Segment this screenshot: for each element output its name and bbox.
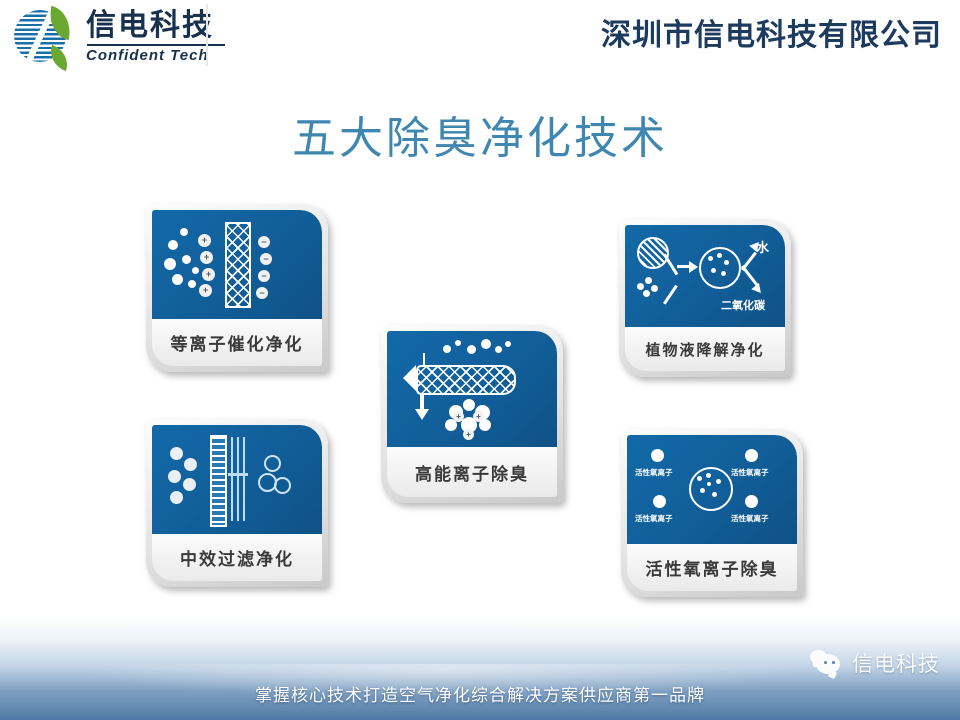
card-frame: 活性氧离子 活性氧离子 活性氧离子 活性氧离子 活性氧离子除臭 xyxy=(621,429,803,597)
particle-dot xyxy=(184,458,197,471)
molecule-dot xyxy=(707,482,711,486)
reaction-arrow xyxy=(663,253,678,275)
ion-positive: + xyxy=(200,251,213,264)
particle-dot xyxy=(182,255,191,264)
pleated-filter-icon xyxy=(210,435,227,527)
bubble-dot xyxy=(505,341,511,347)
ion-dot xyxy=(745,449,758,462)
ion-label: 活性氧离子 xyxy=(731,467,769,478)
card-frame: + + + 高能离子除臭 xyxy=(381,325,563,503)
bubble-dot xyxy=(495,346,502,353)
reaction-arrow xyxy=(663,285,678,305)
bubble-dot xyxy=(481,339,491,349)
header-vertical-separator xyxy=(206,4,208,66)
card-medium-filter[interactable]: 中效过滤净化 xyxy=(146,419,328,587)
tube-stem xyxy=(423,353,425,365)
card-face: 中效过滤净化 xyxy=(152,425,322,581)
bubble-dot xyxy=(463,399,475,411)
card-frame: 中效过滤净化 xyxy=(146,419,328,587)
catalytic-mesh-icon xyxy=(225,222,251,308)
reaction-arrow-head xyxy=(689,261,698,273)
slide-title: 五大除臭净化技术 xyxy=(0,102,960,166)
card-frame: 水 二氧化碳 植物液降解净化 xyxy=(619,219,791,377)
high-energy-ion-tube-icon: + + + xyxy=(387,331,557,447)
oxygen-core-icon xyxy=(689,467,733,511)
slide-header: 信电科技 Confident Tech 深圳市信电科技有限公司 xyxy=(0,0,960,78)
wechat-account-name: 信电科技 xyxy=(852,648,940,678)
logo-wordmark: 信电科技 Confident Tech xyxy=(86,10,225,64)
plant-liquid-degradation-icon: 水 二氧化碳 xyxy=(625,225,785,327)
ion-dot xyxy=(653,495,666,508)
wechat-watermark: 信电科技 xyxy=(810,648,940,678)
logo-english-name: Confident Tech xyxy=(86,47,225,64)
particle-dot xyxy=(180,228,188,236)
card-face: + + + 高能离子除臭 xyxy=(387,331,557,497)
slide-footer: 信电科技 掌握核心技术打造空气净化综合解决方案供应商第一品牌 xyxy=(0,616,960,720)
ion-label: 活性氧离子 xyxy=(635,513,673,524)
filter-bar xyxy=(243,437,245,521)
product-label-water: 水 xyxy=(756,237,769,256)
ion-positive: + xyxy=(198,234,211,247)
logo-globe-leaf-icon xyxy=(12,6,74,68)
card-frame: + + + + − − − − 等离子催化净化 xyxy=(146,204,328,372)
particle-dot xyxy=(183,478,196,491)
logo-chinese-name: 信电科技 xyxy=(86,10,225,42)
molecule-dot xyxy=(712,492,717,497)
molecule-dot xyxy=(697,476,702,481)
filter-bar-cross xyxy=(228,473,248,476)
bubble-dot xyxy=(455,340,461,346)
molecule-dot xyxy=(700,488,705,493)
clean-air-ring xyxy=(264,455,281,472)
molecule-dot xyxy=(716,479,721,484)
ion-positive: + xyxy=(463,429,474,440)
bubble-dot xyxy=(443,345,451,353)
molecule-dot xyxy=(717,253,722,258)
card-label-ion: 高能离子除臭 xyxy=(387,447,557,497)
active-oxygen-ions-icon: 活性氧离子 活性氧离子 活性氧离子 活性氧离子 xyxy=(627,435,797,544)
ion-positive: + xyxy=(453,411,464,422)
footer-slogan: 掌握核心技术打造空气净化综合解决方案供应商第一品牌 xyxy=(0,681,960,706)
molecule-dot xyxy=(724,260,729,265)
molecule-dot xyxy=(645,277,652,284)
molecule-dot xyxy=(643,290,650,297)
medium-efficiency-filter-icon xyxy=(152,425,322,534)
tube-cap-icon xyxy=(403,365,416,391)
card-high-energy-ion[interactable]: + + + 高能离子除臭 xyxy=(381,325,563,503)
card-plasma-catalytic[interactable]: + + + + − − − − 等离子催化净化 xyxy=(146,204,328,372)
ion-negative: − xyxy=(258,236,270,248)
particle-dot xyxy=(188,280,196,288)
particle-dot xyxy=(170,491,183,504)
presentation-slide: 信电科技 Confident Tech 深圳市信电科技有限公司 五大除臭净化技术 xyxy=(0,0,960,720)
particle-dot xyxy=(164,258,176,270)
logo-divider-rule xyxy=(87,44,225,46)
company-full-name: 深圳市信电科技有限公司 xyxy=(601,10,942,54)
card-label-oxygen: 活性氧离子除臭 xyxy=(627,544,797,591)
flow-arrow-head xyxy=(415,409,429,420)
product-arrow-down-head xyxy=(751,283,764,296)
ion-positive: + xyxy=(199,284,212,297)
filter-bar xyxy=(231,437,233,521)
ion-label: 活性氧离子 xyxy=(635,467,673,478)
card-plant-liquid[interactable]: 水 二氧化碳 植物液降解净化 xyxy=(619,219,791,377)
molecule-dot xyxy=(637,283,644,290)
clean-air-ring xyxy=(274,477,291,494)
molecule-dot xyxy=(708,256,713,261)
wechat-eye xyxy=(832,661,835,664)
ion-tube-icon xyxy=(416,365,516,395)
molecule-dot xyxy=(711,268,716,273)
bubble-dot xyxy=(467,345,476,354)
molecule-dot xyxy=(706,473,711,478)
ion-dot xyxy=(745,495,758,508)
plasma-catalytic-icon: + + + + − − − − xyxy=(152,210,322,319)
card-face: 水 二氧化碳 植物液降解净化 xyxy=(625,225,785,371)
ion-dot xyxy=(651,449,664,462)
card-face: 活性氧离子 活性氧离子 活性氧离子 活性氧离子 活性氧离子除臭 xyxy=(627,435,797,591)
card-active-oxygen[interactable]: 活性氧离子 活性氧离子 活性氧离子 活性氧离子 活性氧离子除臭 xyxy=(621,429,803,597)
card-label-filter: 中效过滤净化 xyxy=(152,534,322,581)
filter-bar xyxy=(237,437,239,521)
card-label-plant: 植物液降解净化 xyxy=(625,327,785,371)
particle-dot xyxy=(170,447,183,460)
card-face: + + + + − − − − 等离子催化净化 xyxy=(152,210,322,366)
ion-negative: − xyxy=(260,253,272,265)
particle-dot xyxy=(168,470,181,483)
ion-negative: − xyxy=(256,287,268,299)
card-label-plasma: 等离子催化净化 xyxy=(152,319,322,366)
ion-positive: + xyxy=(473,411,484,422)
ion-label: 活性氧离子 xyxy=(731,513,769,524)
molecule-dot xyxy=(651,285,658,292)
ion-negative: − xyxy=(258,270,270,282)
particle-dot xyxy=(168,240,178,250)
ion-positive: + xyxy=(202,268,215,281)
wechat-eye xyxy=(824,661,827,664)
particle-dot xyxy=(192,267,199,274)
wechat-icon xyxy=(810,650,844,676)
molecule-dot xyxy=(721,271,726,276)
product-label-co2: 二氧化碳 xyxy=(721,297,765,313)
company-logo: 信电科技 Confident Tech xyxy=(12,6,225,68)
product-arrow-down xyxy=(741,265,758,286)
particle-dot xyxy=(172,274,183,285)
